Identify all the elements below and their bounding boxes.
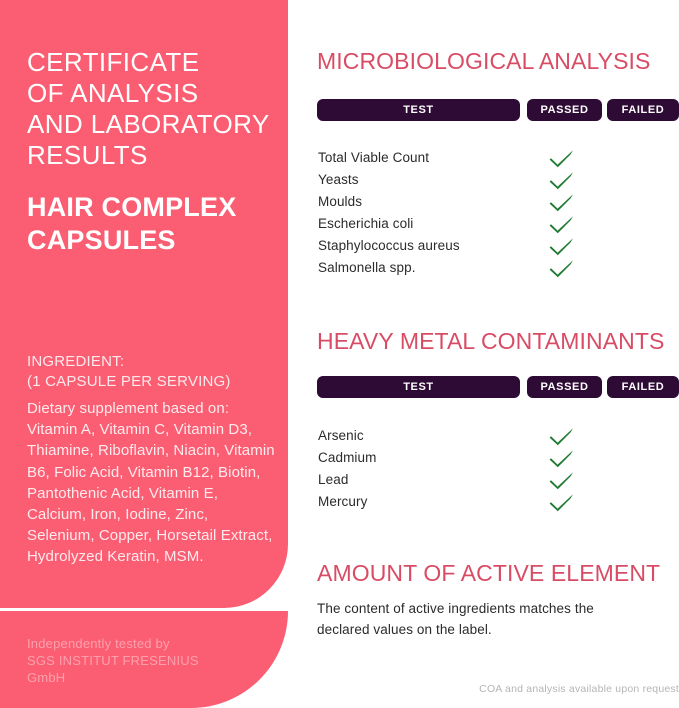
section-title-heavy-metals: HEAVY METAL CONTAMINANTS xyxy=(317,328,664,354)
table-body-heavy-metals: ArsenicCadmiumLeadMercury xyxy=(317,425,679,513)
ingredient-list: Dietary supplement based on: Vitamin A, … xyxy=(27,398,277,568)
certificate-title-block: CERTIFICATE OF ANALYSIS AND LABORATORY R… xyxy=(27,47,277,257)
tested-by-block: Independently tested by SGS INSTITUT FRE… xyxy=(27,635,257,686)
check-icon xyxy=(549,215,575,234)
page-title-line-1: CERTIFICATE xyxy=(27,47,277,78)
active-element-description: The content of active ingredients matche… xyxy=(317,598,647,640)
tested-by-line-3: GmbH xyxy=(27,669,257,686)
test-name: Moulds xyxy=(318,191,362,213)
page-title-line-2: OF ANALYSIS xyxy=(27,78,277,109)
table-row: Yeasts xyxy=(317,169,679,191)
table-header-microbiological: TEST PASSED FAILED xyxy=(317,99,679,121)
test-name: Escherichia coli xyxy=(318,213,413,235)
table-row: Total Viable Count xyxy=(317,147,679,169)
ingredient-heading: INGREDIENT: (1 CAPSULE PER SERVING) xyxy=(27,352,279,392)
check-icon xyxy=(549,493,575,512)
section-title-active-element: AMOUNT OF ACTIVE ELEMENT xyxy=(317,560,660,586)
table-row: Moulds xyxy=(317,191,679,213)
product-name-line-1: HAIR COMPLEX xyxy=(27,191,277,224)
table-row: Mercury xyxy=(317,491,679,513)
test-name: Salmonella spp. xyxy=(318,257,416,279)
column-header-failed: FAILED xyxy=(607,99,679,121)
table-row: Staphylococcus aureus xyxy=(317,235,679,257)
check-icon xyxy=(549,171,575,190)
table-row: Arsenic xyxy=(317,425,679,447)
ingredient-heading-line-2: (1 CAPSULE PER SERVING) xyxy=(27,372,279,392)
page-title-line-4: RESULTS xyxy=(27,140,277,171)
coa-footer-note: COA and analysis available upon request xyxy=(317,683,679,695)
table-header-heavy-metals: TEST PASSED FAILED xyxy=(317,376,679,398)
check-icon xyxy=(549,259,575,278)
table-row: Salmonella spp. xyxy=(317,257,679,279)
check-icon xyxy=(549,149,575,168)
tested-by-line-1: Independently tested by xyxy=(27,635,257,652)
check-icon xyxy=(549,449,575,468)
table-row: Escherichia coli xyxy=(317,213,679,235)
check-icon xyxy=(549,237,575,256)
table-body-microbiological: Total Viable CountYeastsMouldsEscherichi… xyxy=(317,147,679,279)
section-title-microbiological: MICROBIOLOGICAL ANALYSIS xyxy=(317,48,650,74)
test-name: Mercury xyxy=(318,491,367,513)
results-column: MICROBIOLOGICAL ANALYSIS TEST PASSED FAI… xyxy=(317,0,679,708)
tested-by-line-2: SGS INSTITUT FRESENIUS xyxy=(27,652,257,669)
page-title-line-3: AND LABORATORY xyxy=(27,109,277,140)
column-header-test: TEST xyxy=(317,376,520,398)
check-icon xyxy=(549,471,575,490)
test-name: Staphylococcus aureus xyxy=(318,235,460,257)
test-name: Lead xyxy=(318,469,348,491)
check-icon xyxy=(549,193,575,212)
test-name: Total Viable Count xyxy=(318,147,429,169)
table-row: Lead xyxy=(317,469,679,491)
test-name: Cadmium xyxy=(318,447,376,469)
column-header-passed: PASSED xyxy=(527,376,602,398)
column-header-passed: PASSED xyxy=(527,99,602,121)
ingredient-heading-line-1: INGREDIENT: xyxy=(27,352,279,372)
column-header-test: TEST xyxy=(317,99,520,121)
column-header-failed: FAILED xyxy=(607,376,679,398)
check-icon xyxy=(549,427,575,446)
table-row: Cadmium xyxy=(317,447,679,469)
test-name: Arsenic xyxy=(318,425,364,447)
test-name: Yeasts xyxy=(318,169,359,191)
product-name-line-2: CAPSULES xyxy=(27,224,277,257)
